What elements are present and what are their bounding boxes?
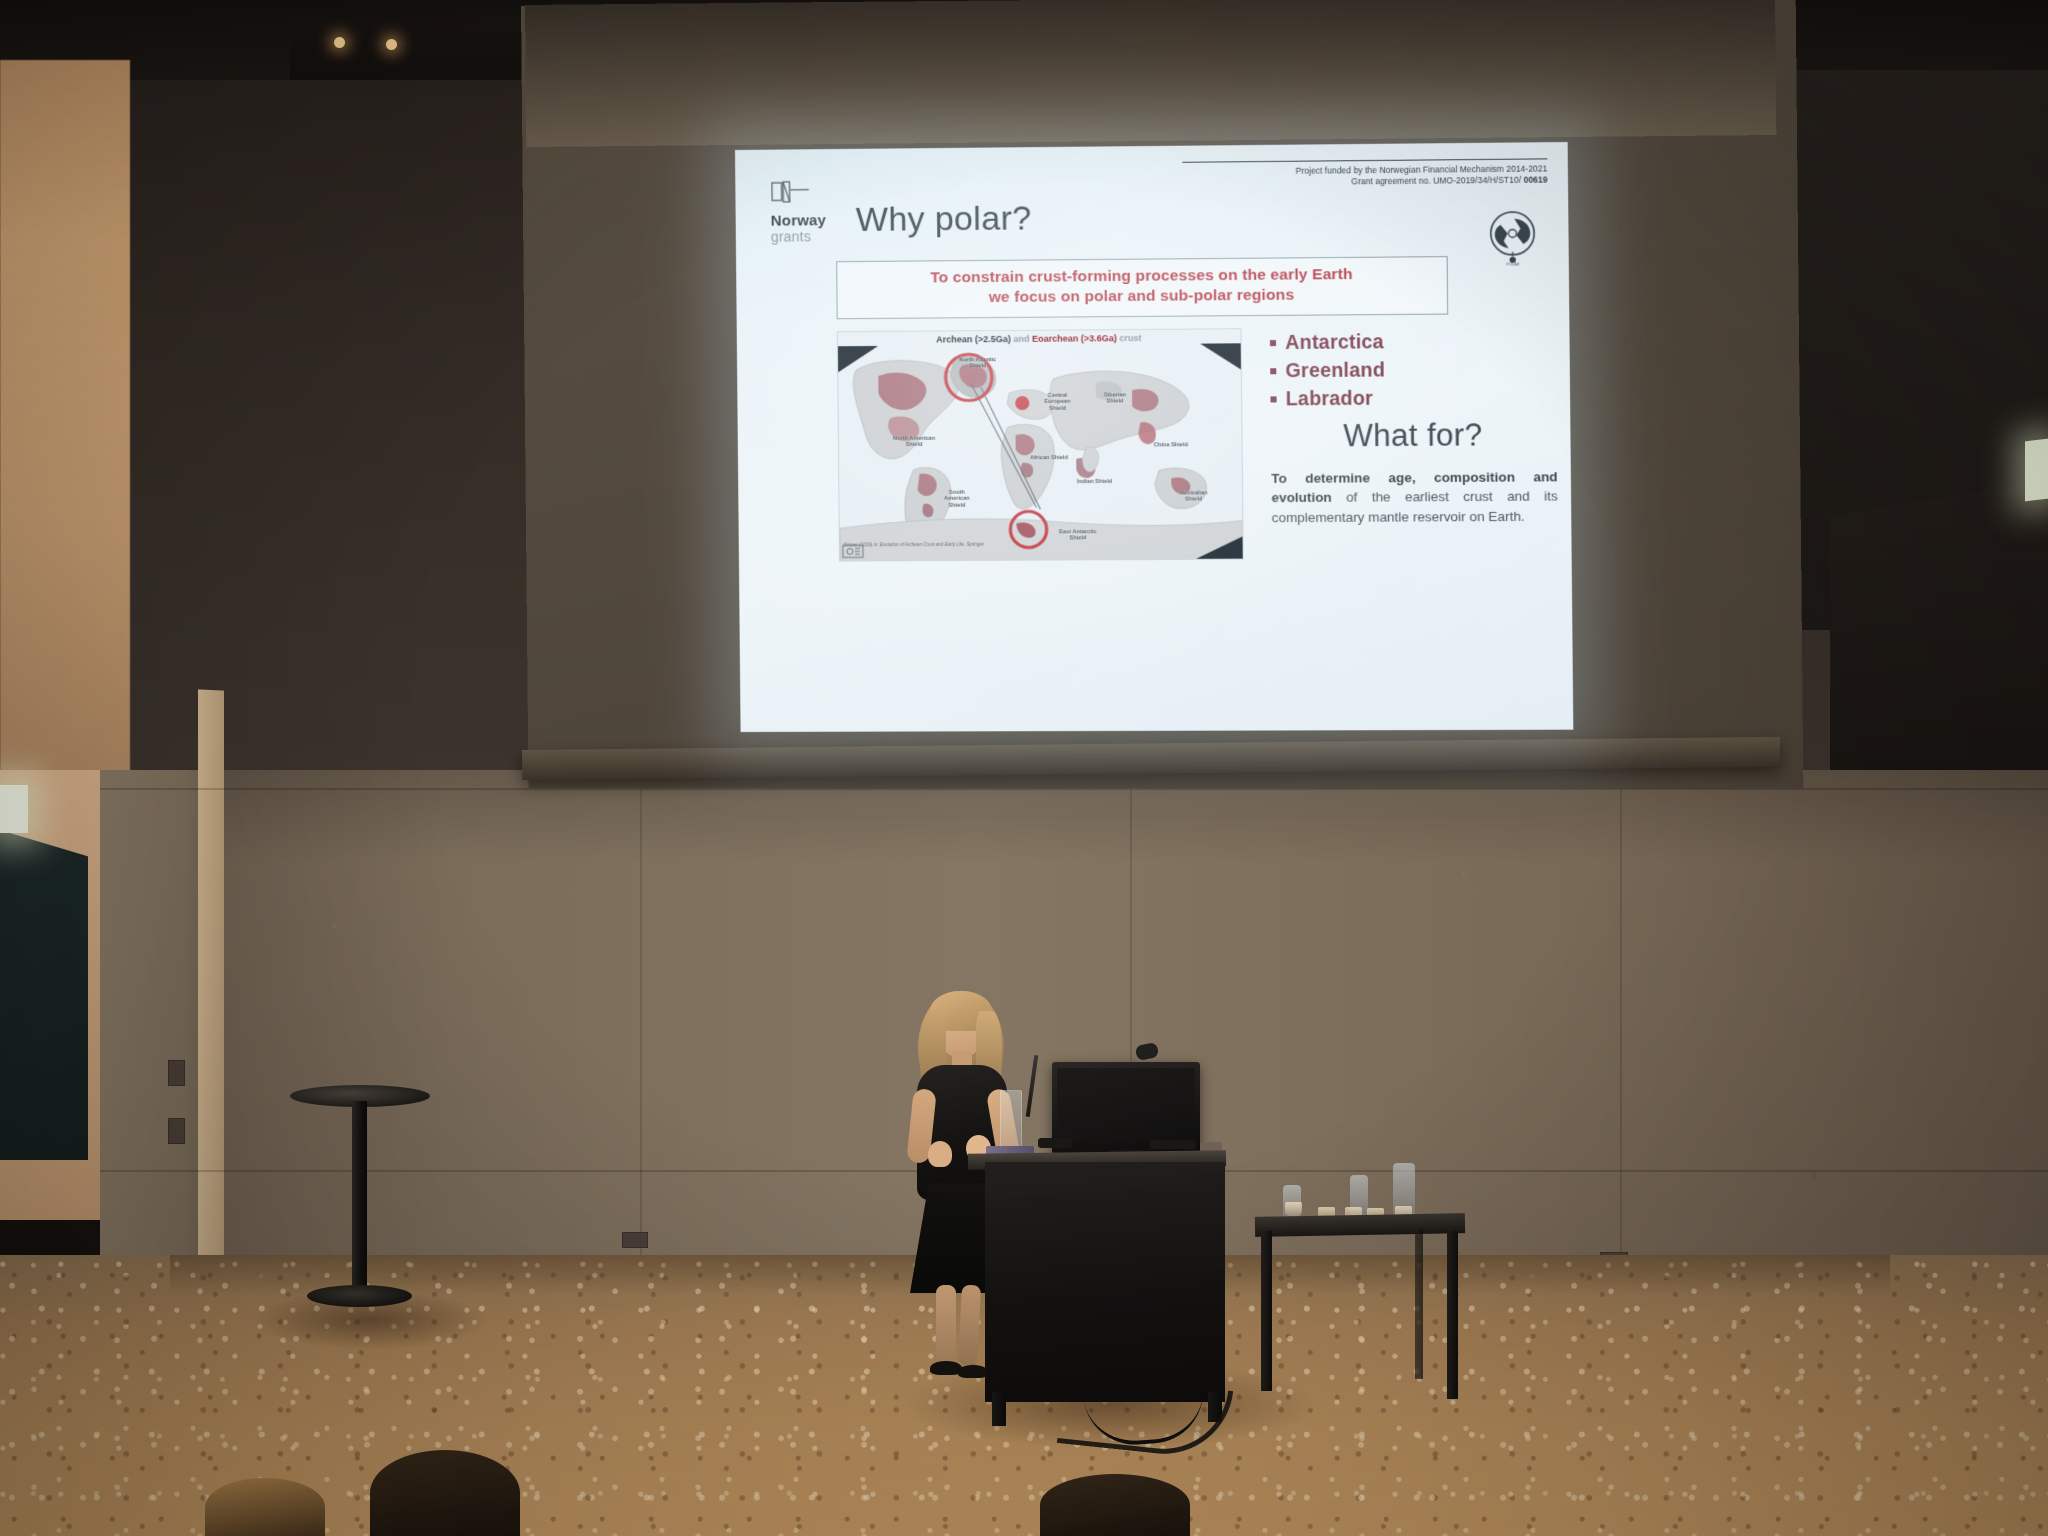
list-item: Labrador xyxy=(1270,388,1385,412)
list-item: Greenland xyxy=(1270,359,1385,383)
ceiling-lamp-icon xyxy=(386,39,397,50)
left-dark-panel xyxy=(0,830,88,1160)
presentation-slide: Norway grants Project funded by the Norw… xyxy=(735,142,1573,732)
presenter-hand-left xyxy=(928,1141,952,1167)
high-table-base xyxy=(307,1285,412,1307)
lectern xyxy=(985,1162,1225,1402)
bullet-label: Labrador xyxy=(1286,388,1374,412)
projection-screen-shade xyxy=(525,0,1776,147)
map-caption-archean: Archean (>2.5Ga) xyxy=(936,334,1011,345)
grant-no-code: 00619 xyxy=(1524,175,1548,185)
shield-label: North Atlantic Shield xyxy=(956,357,998,370)
map-citation: Kröner (2019) in: Evolution of Archean C… xyxy=(844,542,1025,549)
auditorium-scene: Norway grants Project funded by the Norw… xyxy=(0,0,2048,1536)
side-table xyxy=(1255,1215,1465,1395)
wall-socket xyxy=(168,1118,185,1144)
lectern-leg xyxy=(992,1392,1006,1426)
high-top-table xyxy=(290,1085,430,1320)
wall-socket xyxy=(168,1060,185,1086)
map-caption-eoarchean: Eoarchean (>3.6Ga) xyxy=(1032,333,1117,344)
wall-seam-vertical xyxy=(1620,790,1622,1260)
shield-label: Australian Shield xyxy=(1171,490,1216,503)
whatfor-body: To determine age, composition and evolut… xyxy=(1271,467,1558,527)
side-table-leg xyxy=(1261,1231,1272,1391)
water-glass xyxy=(1000,1090,1022,1152)
desk-item xyxy=(1038,1138,1072,1148)
right-dark-panel xyxy=(1830,480,2048,780)
shield-label: Indian Shield xyxy=(1076,479,1112,485)
funding-line-2: Grant agreement no. UMO-2019/34/H/ST10/ … xyxy=(1182,175,1547,190)
key-statement-box: To constrain crust-forming processes on … xyxy=(836,256,1448,319)
shield-label: African Shield xyxy=(1030,455,1068,462)
shield-label: Siberian Shield xyxy=(1096,392,1134,405)
slide-title: Why polar? xyxy=(856,199,1032,240)
project-globe-puzzle-logo-icon: POLAR xyxy=(1481,205,1545,268)
world-shield-map: Archean (>2.5Ga) and Eoarchean (>3.6Ga) … xyxy=(837,328,1244,561)
shield-label: China Shield xyxy=(1153,442,1189,449)
map-corner-bottom-right xyxy=(1196,536,1243,558)
norway-grants-mark-icon xyxy=(770,177,818,205)
desk-item xyxy=(1150,1140,1196,1149)
side-table-leg xyxy=(1415,1229,1423,1379)
shield-label: Central European Shield xyxy=(1035,393,1079,412)
monitor-screen xyxy=(1057,1068,1195,1142)
audience-head xyxy=(370,1450,520,1536)
drinking-glass xyxy=(1285,1202,1302,1216)
grant-no-prefix: Grant agreement no. UMO-2019/34/H/ST10/ xyxy=(1351,175,1523,187)
bullet-square-icon xyxy=(1270,368,1276,374)
audience-head xyxy=(1040,1474,1190,1536)
map-caption-and: and xyxy=(1011,334,1032,344)
funding-rule xyxy=(1182,158,1547,162)
high-table-pole xyxy=(352,1101,367,1297)
presenter-leg-right xyxy=(958,1285,981,1366)
bullet-square-icon xyxy=(1270,396,1276,402)
map-corner-top-right xyxy=(1200,343,1241,369)
map-corner-top-left xyxy=(838,346,878,372)
funding-statement: Project funded by the Norwegian Financia… xyxy=(1182,158,1547,189)
publisher-logo-icon xyxy=(842,544,864,558)
bullet-label: Antarctica xyxy=(1285,331,1384,355)
shield-label: South American Shield xyxy=(936,490,978,509)
norway-grants-logo: Norway grants xyxy=(770,177,843,244)
map-caption-crust: crust xyxy=(1117,333,1142,343)
audience-head xyxy=(205,1478,325,1536)
bullet-label: Greenland xyxy=(1285,359,1385,383)
brand-sub: grants xyxy=(771,229,843,244)
shield-label: North American Shield xyxy=(891,436,937,449)
shield-label: East Antarctic Shield xyxy=(1053,529,1103,542)
wall-light-right-icon xyxy=(2025,439,2048,502)
ceiling-lamp-icon xyxy=(334,37,345,48)
brand-name: Norway xyxy=(771,213,843,229)
whatfor-heading: What for? xyxy=(1271,417,1556,455)
presenter-shoe-right xyxy=(958,1365,988,1378)
bullet-square-icon xyxy=(1270,340,1276,346)
svg-text:POLAR: POLAR xyxy=(1506,262,1520,267)
region-bullet-list: Antarctica Greenland Labrador xyxy=(1270,331,1386,416)
side-table-top xyxy=(1255,1213,1465,1237)
presenter-leg-left xyxy=(936,1285,956,1367)
list-item: Antarctica xyxy=(1270,331,1385,355)
warm-left-wall xyxy=(0,60,130,880)
pillar-edge xyxy=(198,689,224,1300)
wall-vent xyxy=(622,1232,648,1248)
wall-light-left-icon xyxy=(0,785,28,833)
wall-seam-vertical xyxy=(640,790,642,1260)
side-table-leg xyxy=(1447,1231,1458,1399)
